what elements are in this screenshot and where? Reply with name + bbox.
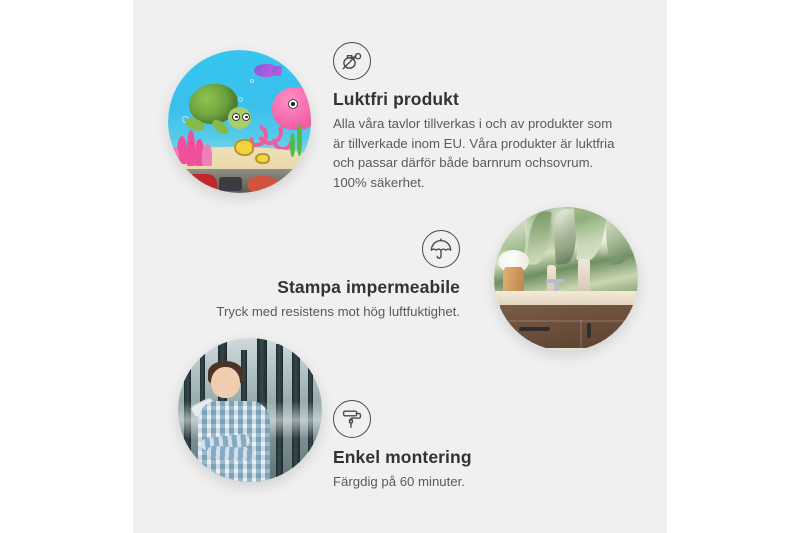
feature-title: Stampa impermeabile — [180, 277, 460, 298]
purple-fish-tail-icon — [272, 66, 282, 76]
cabinet-seam — [580, 320, 582, 349]
bottom-photo-strip — [168, 169, 311, 193]
vanity-cabinet — [500, 305, 638, 348]
cabinet-seam — [500, 320, 638, 322]
umbrella-icon — [422, 230, 460, 268]
coral-icon — [187, 130, 196, 166]
installer-forest-wallpaper-thumbnail — [178, 338, 322, 482]
person-face — [211, 367, 240, 399]
infographic-page: Luktfri produkt Alla våra tavlor tillver… — [0, 0, 800, 533]
feature-text-waterproof: Stampa impermeabile Tryck med resistens … — [180, 230, 460, 322]
door-handle — [587, 323, 591, 338]
bathroom-botanical-wallpaper-thumbnail — [494, 207, 638, 351]
drawer-handle — [519, 327, 549, 331]
leaf-icon — [553, 208, 578, 265]
feature-image-easy-install — [178, 338, 322, 482]
no-fragrance-icon — [333, 42, 371, 80]
feature-description: Tryck med resistens mot hög luftfuktighe… — [180, 302, 460, 322]
yellow-fish-icon — [255, 153, 269, 164]
strip-object — [248, 176, 277, 192]
feature-description: Färgdig på 60 minuter. — [333, 472, 603, 492]
coral-icon — [202, 144, 212, 165]
feature-title: Luktfri produkt — [333, 89, 623, 110]
feature-description: Alla våra tavlor tillverkas i och av pro… — [333, 114, 623, 192]
underwater-cartoon-mural-thumbnail — [168, 50, 311, 193]
bottle — [578, 259, 591, 292]
coral-icon — [171, 147, 180, 166]
feature-title: Enkel montering — [333, 447, 603, 468]
strip-object — [219, 177, 242, 190]
feature-text-easy-install: Enkel montering Färgdig på 60 minuter. — [333, 400, 603, 492]
yellow-fish-icon — [234, 139, 254, 156]
octopus-eye-icon — [288, 99, 298, 109]
paint-roller-icon — [333, 400, 371, 438]
feature-image-waterproof — [494, 207, 638, 351]
turtle-eye-icon — [232, 113, 240, 121]
bubble-icon — [250, 79, 254, 83]
leaf-icon — [603, 208, 635, 264]
feature-text-odourless: Luktfri produkt Alla våra tavlor tillver… — [333, 42, 623, 192]
turtle-eye-icon — [242, 113, 250, 121]
feature-image-odourless — [168, 50, 311, 193]
strip-object — [185, 174, 216, 191]
leaf-icon — [526, 210, 552, 265]
leaf-icon — [576, 211, 607, 264]
